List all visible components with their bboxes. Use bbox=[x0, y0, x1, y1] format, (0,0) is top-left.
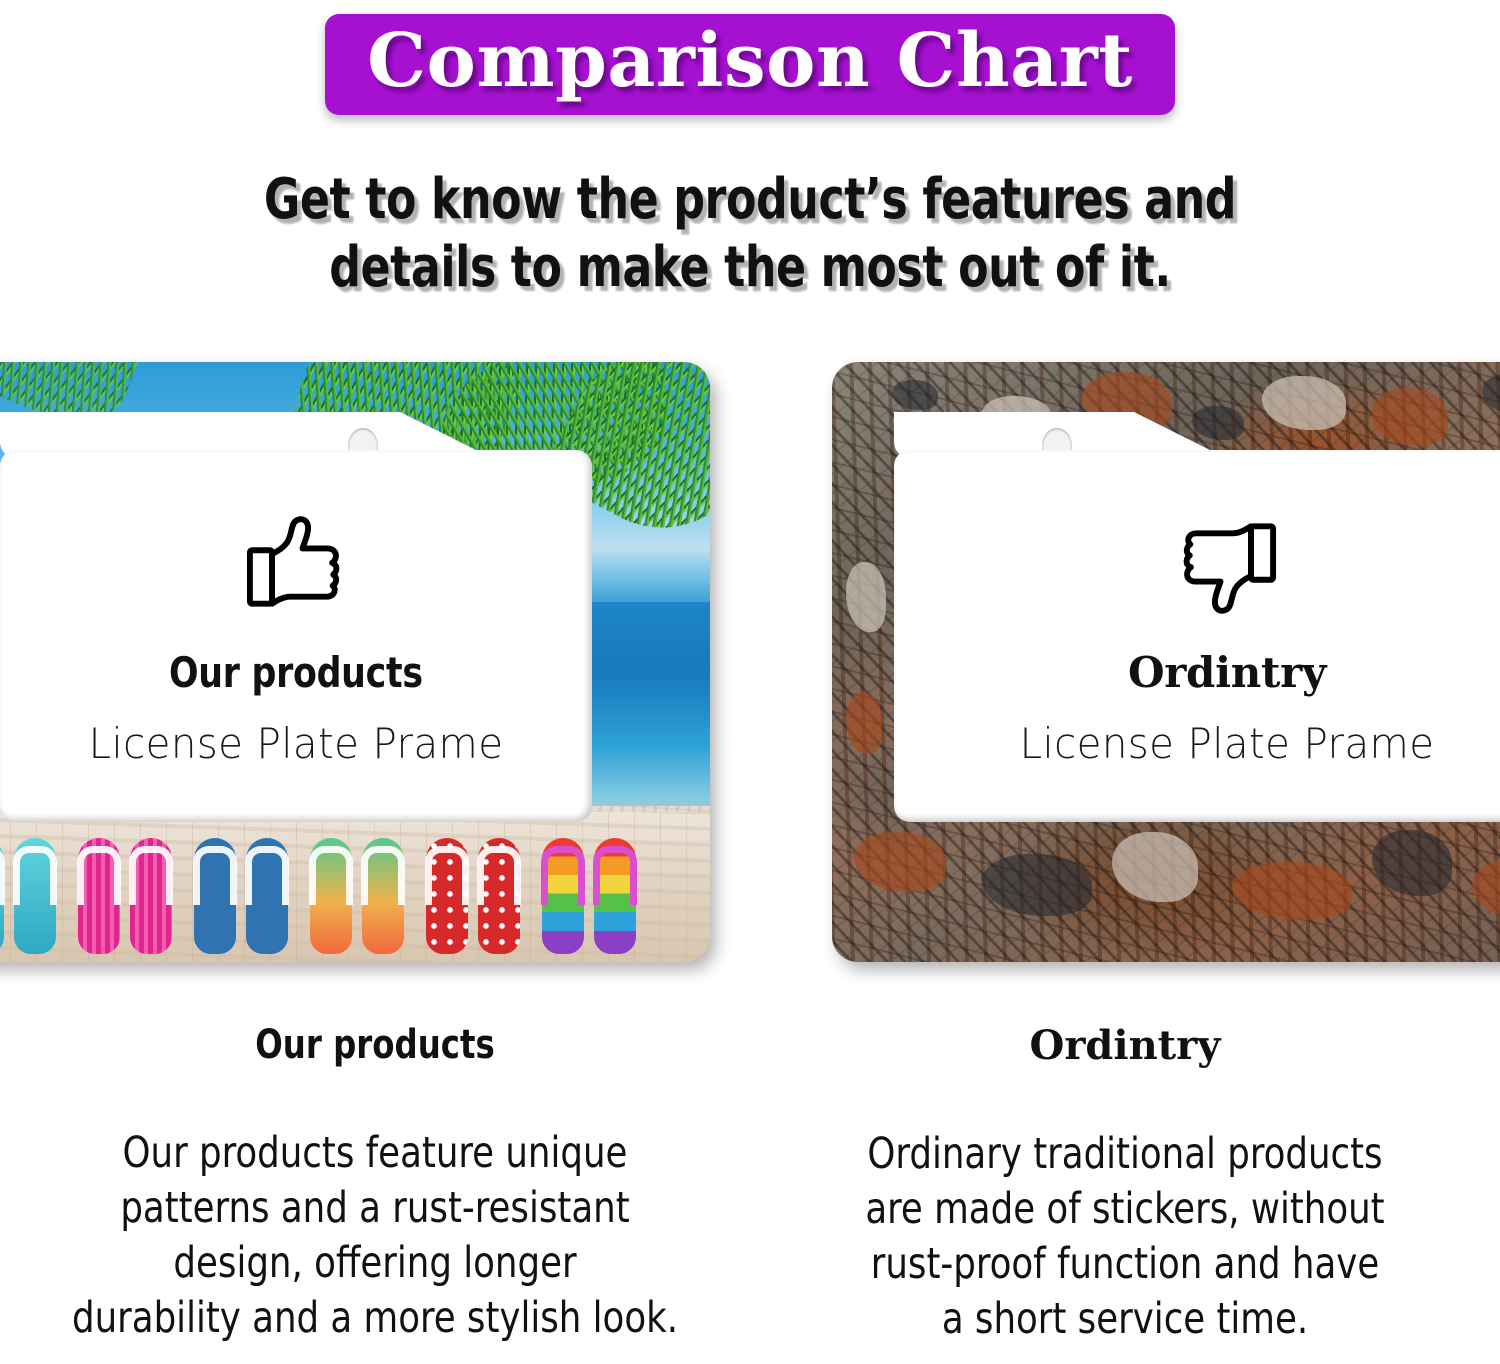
column-heading: Ordintry bbox=[786, 1022, 1464, 1069]
comparison-descriptions: Our products Our products feature unique… bbox=[0, 1022, 1500, 1347]
column-heading: Our products bbox=[70, 1022, 680, 1068]
flipflop-pair bbox=[0, 836, 58, 954]
our-product-plate-frame: Our products License Plate Prame bbox=[0, 362, 710, 962]
thumbs-up-icon bbox=[237, 506, 355, 624]
brand-label: Our products bbox=[169, 648, 423, 697]
flipflop-pair bbox=[78, 836, 174, 954]
subtitle-line-1: Get to know the product’s features and bbox=[90, 166, 1410, 234]
subtitle-line-2: details to make the most out of it. bbox=[90, 234, 1410, 302]
body-line: a short service time. bbox=[813, 1292, 1437, 1347]
our-products-description-column: Our products Our products feature unique… bbox=[0, 1022, 750, 1347]
body-line: Ordinary traditional products bbox=[813, 1127, 1437, 1182]
title-badge: Comparison Chart bbox=[325, 14, 1175, 115]
body-line: rust-proof function and have bbox=[813, 1237, 1437, 1292]
flipflop-pattern-strip bbox=[0, 812, 710, 962]
body-line: design, offering longer bbox=[63, 1236, 687, 1291]
column-body: Ordinary traditional products are made o… bbox=[813, 1127, 1437, 1347]
product-label: License Plate Prame bbox=[89, 719, 504, 768]
body-line: patterns and a rust-resistant bbox=[63, 1181, 687, 1236]
comparison-frames: Our products License Plate Prame bbox=[0, 352, 1500, 992]
flipflop-pair bbox=[542, 836, 638, 954]
plate-window-ordinary-product: Ordintry License Plate Prame bbox=[894, 450, 1500, 822]
header: Comparison Chart bbox=[0, 14, 1500, 115]
plate-window-our-product: Our products License Plate Prame bbox=[0, 450, 592, 822]
body-line: Our products feature unique bbox=[63, 1126, 687, 1181]
column-body: Our products feature unique patterns and… bbox=[63, 1126, 687, 1346]
flipflop-pair bbox=[194, 836, 290, 954]
flipflop-pair bbox=[310, 836, 406, 954]
page-title: Comparison Chart bbox=[367, 24, 1133, 99]
product-label: License Plate Prame bbox=[1020, 719, 1435, 768]
ordinary-products-description-column: Ordintry Ordinary traditional products a… bbox=[750, 1022, 1500, 1347]
body-line: are made of stickers, without bbox=[813, 1182, 1437, 1237]
thumbs-down-icon bbox=[1168, 506, 1286, 624]
brand-label: Ordintry bbox=[1128, 648, 1326, 697]
subtitle: Get to know the product’s features and d… bbox=[90, 166, 1410, 303]
flipflop-pair bbox=[426, 836, 522, 954]
body-line: durability and a more stylish look. bbox=[63, 1291, 687, 1346]
ordinary-product-plate-frame: Ordintry License Plate Prame bbox=[832, 362, 1500, 962]
